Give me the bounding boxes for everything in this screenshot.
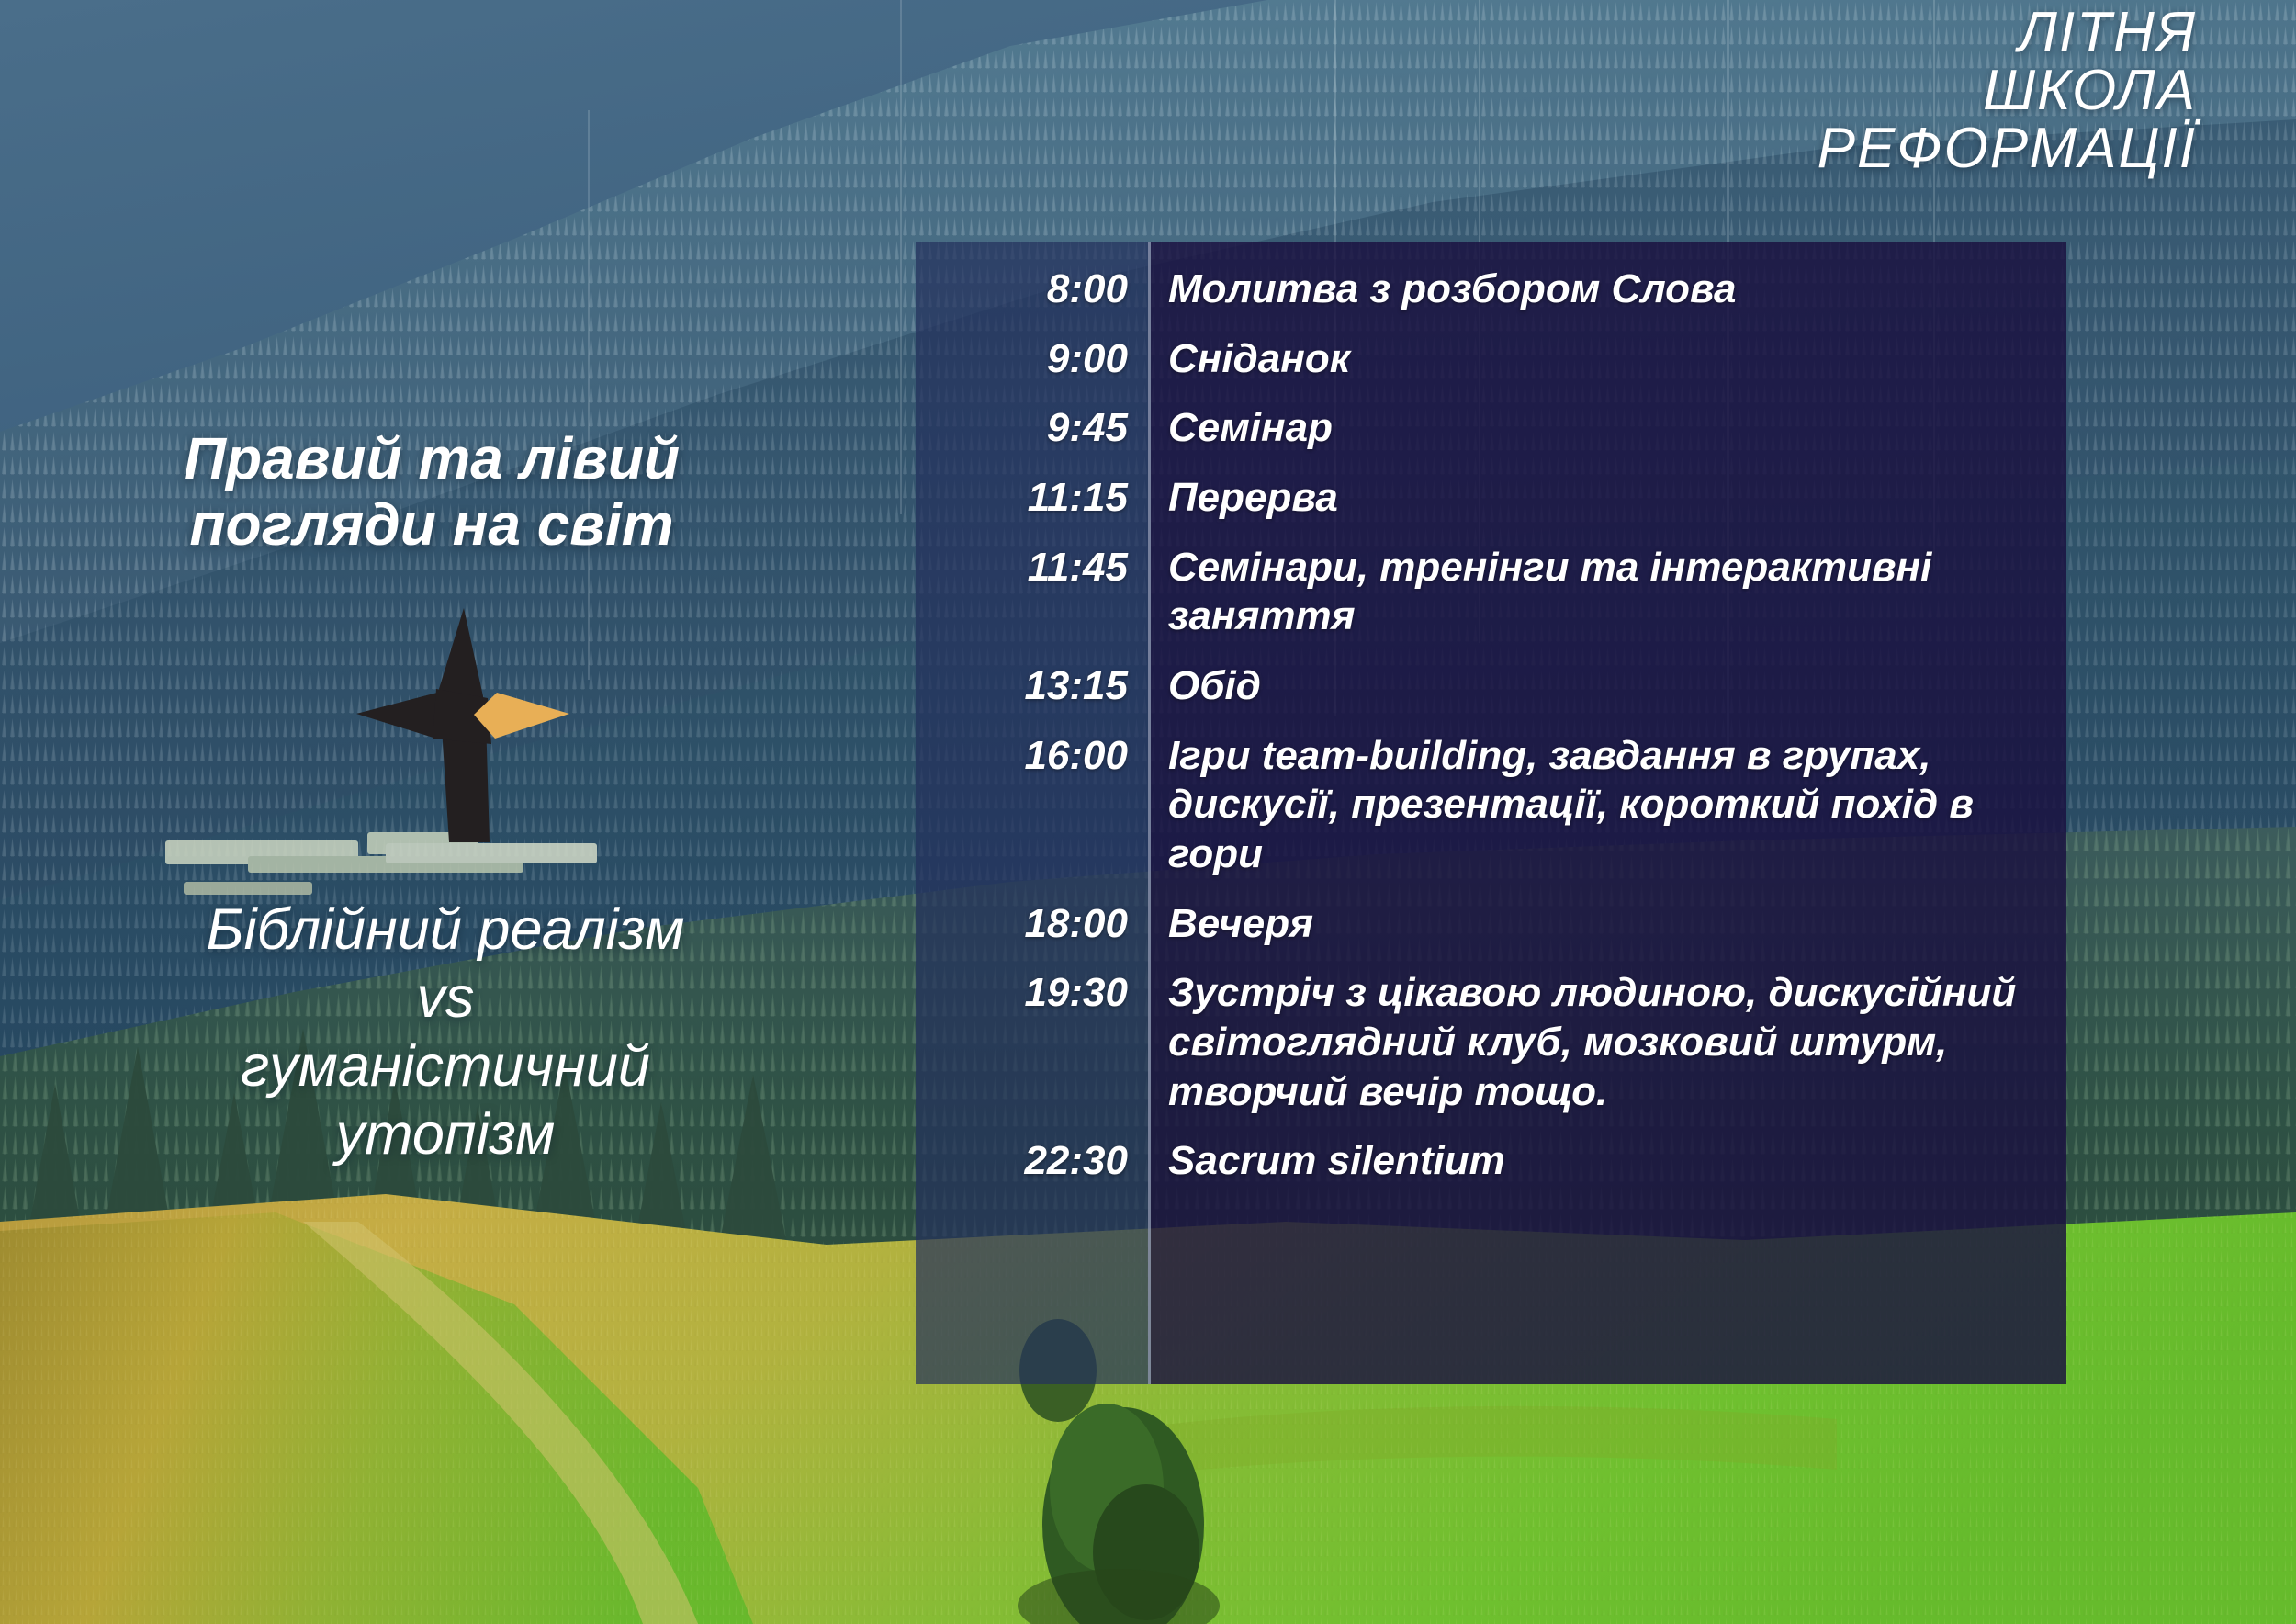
schedule-row-description: Зустріч з цікавою людиною, дискусійний с…: [1148, 968, 2066, 1116]
schedule-row: 13:15Обід: [916, 661, 2066, 711]
schedule-row-description: Семінар: [1148, 403, 2066, 453]
schedule-row-description: Ігри team-building, завдання в групах, д…: [1148, 731, 2066, 879]
star-logo-svg: [352, 581, 627, 842]
schedule-row: 22:30Sacrum silentium: [916, 1136, 2066, 1186]
schedule-rows: 8:00Молитва з розбором Слова9:00Сніданок…: [916, 242, 2066, 1384]
schedule-row-description: Молитва з розбором Слова: [1148, 265, 2066, 314]
topic-heading: Правий та лівий погляди на світ: [110, 426, 753, 558]
schedule-row-time: 9:00: [916, 334, 1148, 384]
topic-heading-line-1: Правий та лівий: [110, 426, 753, 492]
schedule-row: 16:00Ігри team-building, завдання в груп…: [916, 731, 2066, 879]
schedule-row-time: 22:30: [916, 1136, 1148, 1186]
subtitle-line-2: vs: [64, 964, 827, 1032]
schedule-row-time: 8:00: [916, 265, 1148, 314]
schedule-panel: 8:00Молитва з розбором Слова9:00Сніданок…: [916, 242, 2066, 1384]
schedule-row-time: 9:45: [916, 403, 1148, 453]
schedule-row: 9:45Семінар: [916, 403, 2066, 453]
schedule-row-description: Перерва: [1148, 473, 2066, 523]
schedule-row: 11:15Перерва: [916, 473, 2066, 523]
schedule-row-time: 11:45: [916, 543, 1148, 592]
subtitle-block: Біблійний реалізм vs гуманістичний утопі…: [64, 896, 827, 1168]
schedule-row-description: Сніданок: [1148, 334, 2066, 384]
four-pointed-star-logo: [352, 581, 627, 842]
schedule-row-description: Вечеря: [1148, 899, 2066, 949]
schedule-row-description: Семінари, тренінги та інтерактивні занят…: [1148, 543, 2066, 641]
poster-title: ЛІТНЯ ШКОЛА РЕФОРМАЦІЇ: [1818, 4, 2197, 178]
schedule-row-time: 19:30: [916, 968, 1148, 1018]
schedule-row-time: 18:00: [916, 899, 1148, 949]
topic-heading-line-2: погляди на світ: [110, 492, 753, 558]
schedule-row-time: 16:00: [916, 731, 1148, 781]
subtitle-line-4: утопізм: [64, 1100, 827, 1168]
schedule-row-time: 13:15: [916, 661, 1148, 711]
poster-root: ЛІТНЯ ШКОЛА РЕФОРМАЦІЇ Правий та лівий п…: [0, 0, 2296, 1624]
schedule-row-description: Обід: [1148, 661, 2066, 711]
poster-title-line-2: ШКОЛА: [1818, 62, 2197, 119]
subtitle-line-1: Біблійний реалізм: [64, 896, 827, 964]
subtitle-line-3: гуманістичний: [64, 1032, 827, 1100]
poster-title-line-1: ЛІТНЯ: [1818, 4, 2197, 62]
poster-title-line-3: РЕФОРМАЦІЇ: [1818, 119, 2197, 177]
schedule-row-time: 11:15: [916, 473, 1148, 523]
schedule-row: 11:45Семінари, тренінги та інтерактивні …: [916, 543, 2066, 641]
schedule-row: 19:30Зустріч з цікавою людиною, дискусій…: [916, 968, 2066, 1116]
schedule-row: 18:00Вечеря: [916, 899, 2066, 949]
schedule-row-description: Sacrum silentium: [1148, 1136, 2066, 1186]
schedule-row: 9:00Сніданок: [916, 334, 2066, 384]
schedule-row: 8:00Молитва з розбором Слова: [916, 265, 2066, 314]
